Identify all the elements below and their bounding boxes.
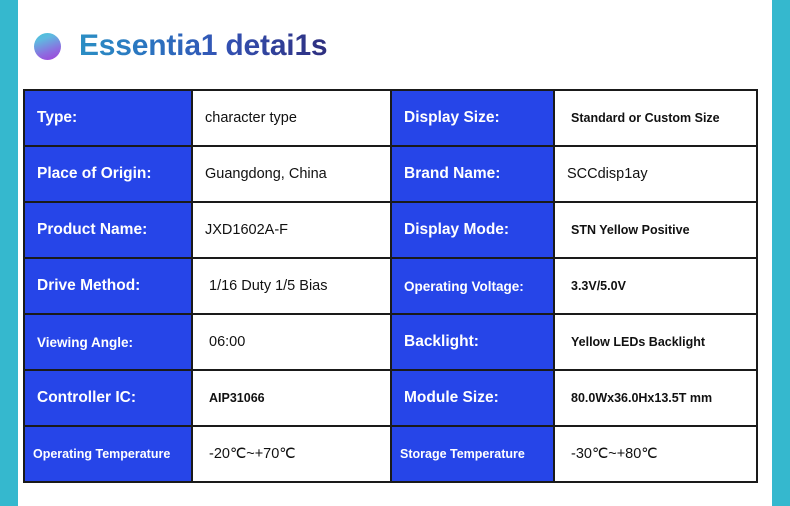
spec-value-module-size: 80.0Wx36.0Hx13.5T mm — [554, 370, 757, 426]
spec-value-place-of-origin: Guangdong, China — [192, 146, 391, 202]
spec-label-brand-name: Brand Name: — [391, 146, 554, 202]
table-row: Product Name: JXD1602A-F Display Mode: S… — [24, 202, 757, 258]
specification-table: Type: character type Display Size: Stand… — [23, 89, 758, 483]
spec-label-storage-temperature: Storage Temperature — [391, 426, 554, 482]
page-header: Essentia1 detai1s — [34, 18, 327, 74]
table-row: Operating Temperature -20℃~+70℃ Storage … — [24, 426, 757, 482]
spec-label-display-mode: Display Mode: — [391, 202, 554, 258]
spec-label-operating-voltage: Operating Voltage: — [391, 258, 554, 314]
spec-value-storage-temperature: -30℃~+80℃ — [554, 426, 757, 482]
spec-label-controller-ic: Controller IC: — [24, 370, 192, 426]
spec-value-display-mode: STN Yellow Positive — [554, 202, 757, 258]
product-detail-page: Essentia1 detai1s Type: character type D… — [0, 0, 790, 506]
spec-label-backlight: Backlight: — [391, 314, 554, 370]
spec-value-viewing-angle: 06:00 — [192, 314, 391, 370]
page-title: Essentia1 detai1s — [79, 29, 327, 63]
spec-label-drive-method: Drive Method: — [24, 258, 192, 314]
left-accent-bar — [0, 0, 18, 506]
table-row: Type: character type Display Size: Stand… — [24, 90, 757, 146]
table-row: Drive Method: 1/16 Duty 1/5 Bias Operati… — [24, 258, 757, 314]
spec-value-product-name: JXD1602A-F — [192, 202, 391, 258]
spec-value-brand-name: SCCdisp1ay — [554, 146, 757, 202]
spec-value-controller-ic: AIP31066 — [192, 370, 391, 426]
gradient-dot-icon — [34, 33, 61, 60]
right-accent-bar — [772, 0, 790, 506]
spec-value-type: character type — [192, 90, 391, 146]
spec-value-operating-voltage: 3.3V/5.0V — [554, 258, 757, 314]
spec-label-place-of-origin: Place of Origin: — [24, 146, 192, 202]
spec-value-operating-temperature: -20℃~+70℃ — [192, 426, 391, 482]
spec-label-module-size: Module Size: — [391, 370, 554, 426]
spec-label-type: Type: — [24, 90, 192, 146]
table-row: Controller IC: AIP31066 Module Size: 80.… — [24, 370, 757, 426]
spec-label-display-size: Display Size: — [391, 90, 554, 146]
spec-label-operating-temperature: Operating Temperature — [24, 426, 192, 482]
table-row: Viewing Angle: 06:00 Backlight: Yellow L… — [24, 314, 757, 370]
spec-value-backlight: Yellow LEDs Backlight — [554, 314, 757, 370]
spec-value-drive-method: 1/16 Duty 1/5 Bias — [192, 258, 391, 314]
spec-label-viewing-angle: Viewing Angle: — [24, 314, 192, 370]
spec-label-product-name: Product Name: — [24, 202, 192, 258]
table-row: Place of Origin: Guangdong, China Brand … — [24, 146, 757, 202]
spec-value-display-size: Standard or Custom Size — [554, 90, 757, 146]
